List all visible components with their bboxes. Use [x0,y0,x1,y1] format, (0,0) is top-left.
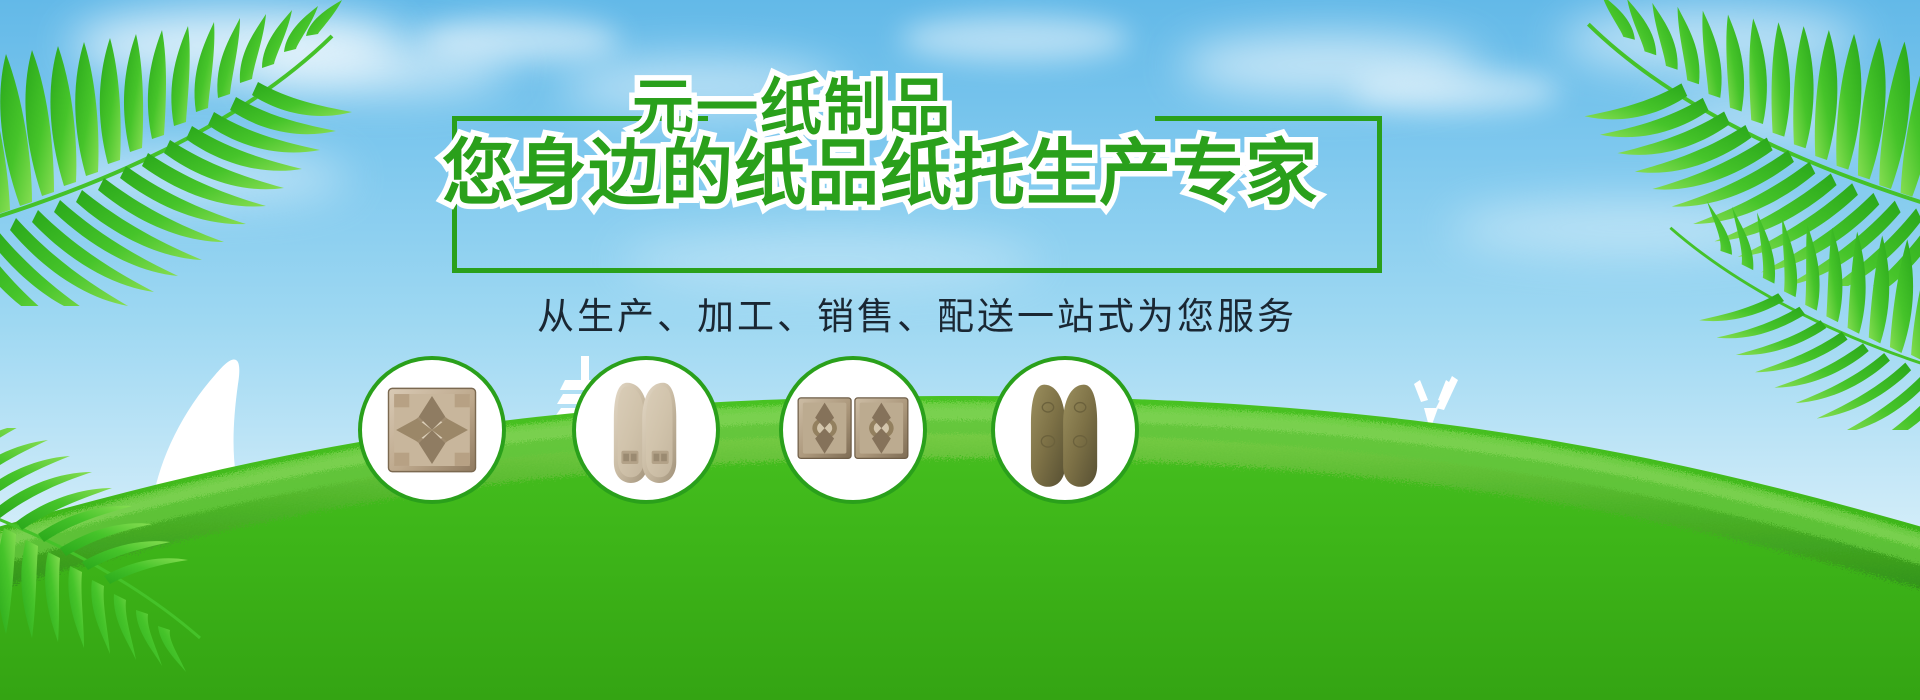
pulp-shoe-tree-pair-icon [576,360,716,500]
pulp-tray-double-icon [783,360,923,500]
product-circle-2[interactable] [572,356,720,504]
product-circle-4[interactable] [991,356,1139,504]
product-showcase [0,0,1920,700]
product-circle-1[interactable] [358,356,506,504]
pulp-tray-square-icon [362,360,502,500]
product-circle-3[interactable] [779,356,927,504]
promo-banner: 元一纸制品 您身边的纸品纸托生产专家 从生产、加工、销售、配送一站式为您服务 [0,0,1920,700]
pulp-shoe-support-dark-icon [995,360,1135,500]
